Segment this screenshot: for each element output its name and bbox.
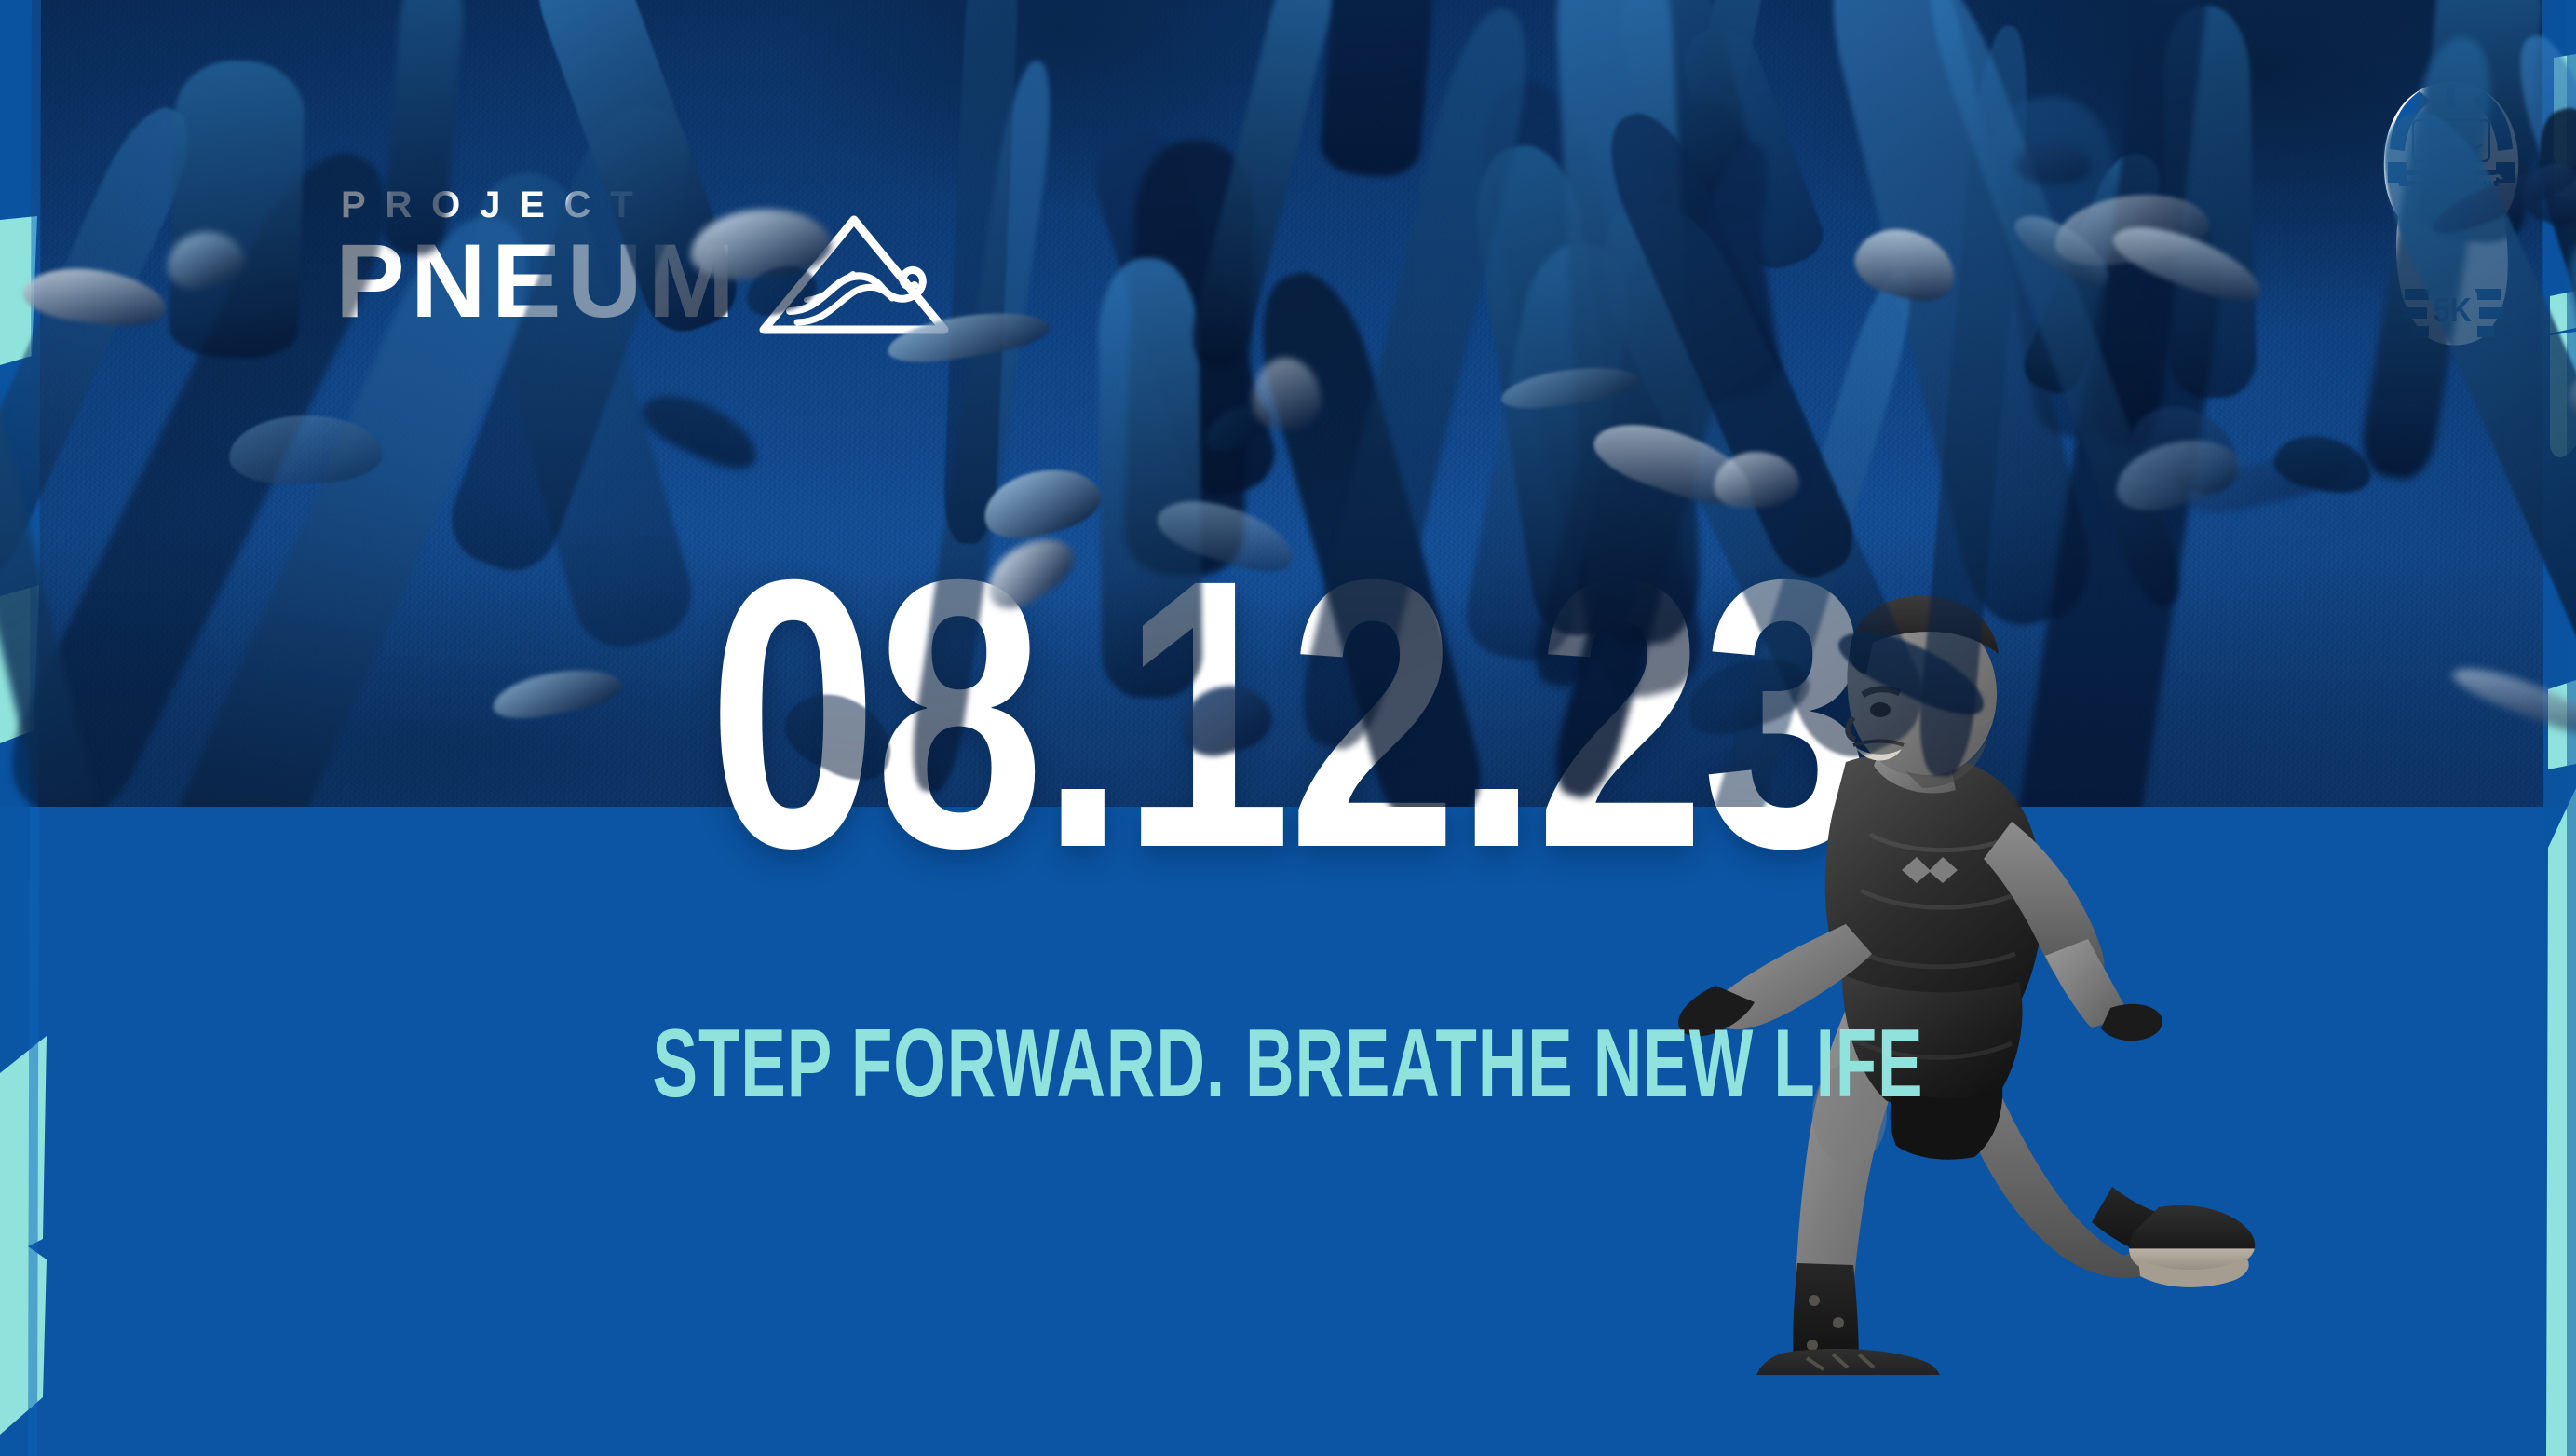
runner-leg <box>169 59 306 360</box>
runner-leg <box>1097 258 1202 699</box>
event-tagline: STEP FORWARD. BREATHE NEW LIFE <box>386 1015 2190 1112</box>
event-promo-poster: 08.12.23 <box>0 0 2576 1456</box>
